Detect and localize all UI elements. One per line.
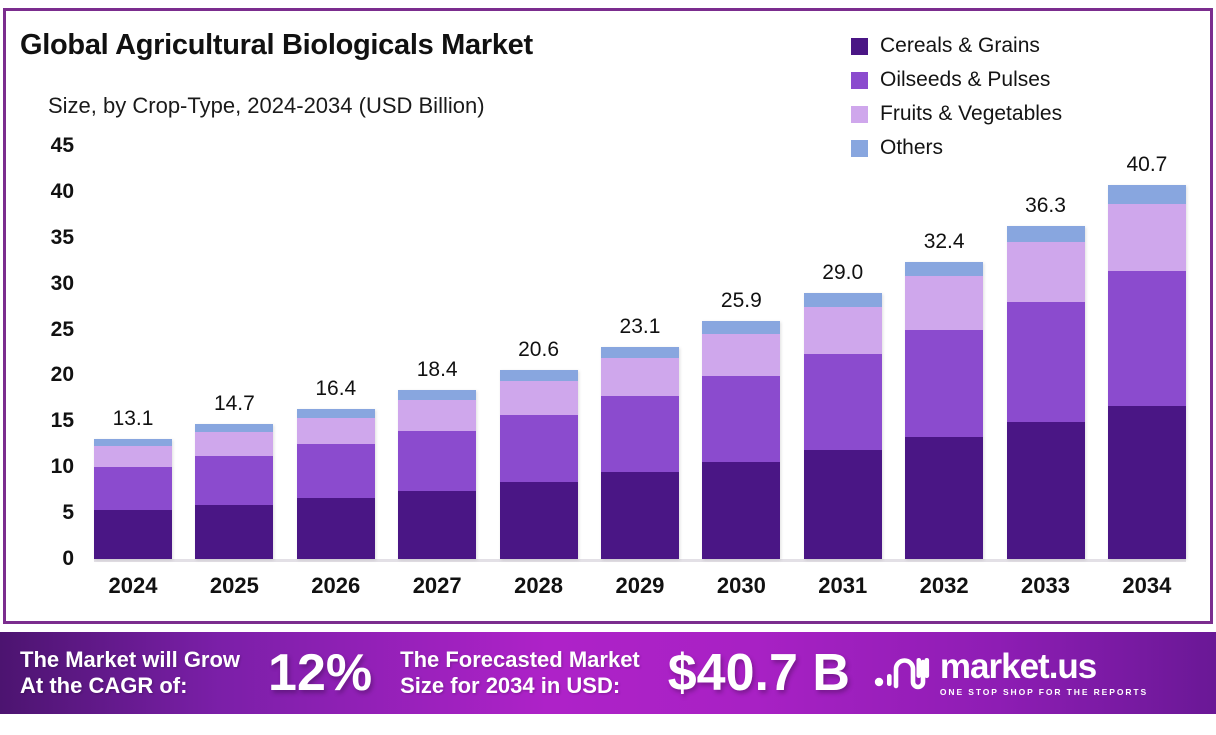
y-axis-tick: 10 bbox=[26, 455, 74, 479]
y-axis-tick: 15 bbox=[26, 409, 74, 433]
cagr-label: The Market will Grow At the CAGR of: bbox=[20, 647, 240, 700]
bar-total-label: 18.4 bbox=[417, 358, 458, 382]
logo-text-block: market.us ONE STOP SHOP FOR THE REPORTS bbox=[940, 649, 1148, 697]
bar-segment[interactable] bbox=[601, 396, 679, 472]
bar-group[interactable]: 40.7 bbox=[1108, 185, 1186, 559]
x-axis-tick: 2027 bbox=[398, 573, 476, 599]
bar-segment[interactable] bbox=[398, 431, 476, 492]
forecast-label-line1: The Forecasted Market bbox=[400, 647, 640, 673]
x-axis-tick: 2024 bbox=[94, 573, 172, 599]
bar-segment[interactable] bbox=[195, 424, 273, 432]
bar-stack[interactable] bbox=[500, 370, 578, 559]
y-axis-tick: 30 bbox=[26, 272, 74, 296]
bar-total-label: 29.0 bbox=[822, 261, 863, 285]
bar-segment[interactable] bbox=[1007, 242, 1085, 302]
market-us-logo: market.us ONE STOP SHOP FOR THE REPORTS bbox=[874, 649, 1148, 697]
bar-segment[interactable] bbox=[195, 432, 273, 456]
y-axis-tick: 40 bbox=[26, 180, 74, 204]
y-axis-tick: 45 bbox=[26, 134, 74, 158]
bar-total-label: 25.9 bbox=[721, 289, 762, 313]
bar-stack[interactable] bbox=[1108, 185, 1186, 559]
bar-stack[interactable] bbox=[94, 439, 172, 559]
bar-stack[interactable] bbox=[804, 293, 882, 559]
bar-segment[interactable] bbox=[702, 334, 780, 376]
forecast-value: $40.7 B bbox=[668, 643, 850, 703]
bar-total-label: 23.1 bbox=[620, 315, 661, 339]
x-axis-tick: 2032 bbox=[905, 573, 983, 599]
y-axis-tick: 25 bbox=[26, 318, 74, 342]
bar-segment[interactable] bbox=[500, 381, 578, 415]
bar-segment[interactable] bbox=[94, 467, 172, 510]
bar-segment[interactable] bbox=[702, 376, 780, 461]
chart-frame: Global Agricultural Biologicals Market S… bbox=[3, 8, 1213, 624]
bar-group[interactable]: 32.4 bbox=[905, 262, 983, 559]
x-axis: 2024202520262027202820292030203120322033… bbox=[94, 573, 1186, 599]
bar-stack[interactable] bbox=[905, 262, 983, 559]
bar-segment[interactable] bbox=[804, 293, 882, 307]
x-axis-tick: 2026 bbox=[297, 573, 375, 599]
bar-stack[interactable] bbox=[702, 321, 780, 559]
bar-segment[interactable] bbox=[905, 330, 983, 437]
bar-total-label: 40.7 bbox=[1126, 153, 1167, 177]
bar-segment[interactable] bbox=[1007, 422, 1085, 559]
y-axis-tick: 35 bbox=[26, 226, 74, 250]
bar-segment[interactable] bbox=[1007, 302, 1085, 422]
bar-stack[interactable] bbox=[1007, 226, 1085, 559]
bar-segment[interactable] bbox=[1007, 226, 1085, 243]
bar-segment[interactable] bbox=[500, 482, 578, 559]
bar-segment[interactable] bbox=[500, 415, 578, 482]
bar-total-label: 20.6 bbox=[518, 338, 559, 362]
bar-stack[interactable] bbox=[195, 424, 273, 559]
bar-total-label: 16.4 bbox=[315, 377, 356, 401]
bar-group[interactable]: 16.4 bbox=[297, 409, 375, 560]
x-axis-tick: 2028 bbox=[500, 573, 578, 599]
bar-stack[interactable] bbox=[601, 347, 679, 559]
bar-total-label: 32.4 bbox=[924, 230, 965, 254]
bar-stack[interactable] bbox=[297, 409, 375, 560]
x-axis-tick: 2025 bbox=[195, 573, 273, 599]
bar-total-label: 36.3 bbox=[1025, 194, 1066, 218]
cagr-label-line2: At the CAGR of: bbox=[20, 673, 240, 699]
bar-segment[interactable] bbox=[702, 321, 780, 334]
bar-group[interactable]: 23.1 bbox=[601, 347, 679, 559]
bar-segment[interactable] bbox=[601, 347, 679, 358]
bar-segment[interactable] bbox=[804, 450, 882, 559]
x-axis-tick: 2030 bbox=[702, 573, 780, 599]
y-axis-tick: 20 bbox=[26, 363, 74, 387]
bar-series-container: 13.114.716.418.420.623.125.929.032.436.3… bbox=[94, 146, 1186, 559]
bar-segment[interactable] bbox=[94, 446, 172, 467]
cagr-label-line1: The Market will Grow bbox=[20, 647, 240, 673]
bar-group[interactable]: 13.1 bbox=[94, 439, 172, 559]
bar-segment[interactable] bbox=[905, 276, 983, 329]
bar-segment[interactable] bbox=[398, 400, 476, 430]
bar-segment[interactable] bbox=[905, 437, 983, 559]
bar-segment[interactable] bbox=[702, 462, 780, 559]
bar-segment[interactable] bbox=[297, 444, 375, 498]
bar-segment[interactable] bbox=[297, 498, 375, 559]
bar-segment[interactable] bbox=[297, 409, 375, 418]
x-axis-baseline bbox=[94, 559, 1186, 562]
x-axis-tick: 2034 bbox=[1108, 573, 1186, 599]
bar-group[interactable]: 36.3 bbox=[1007, 226, 1085, 559]
bar-segment[interactable] bbox=[1108, 185, 1186, 203]
bar-group[interactable]: 29.0 bbox=[804, 293, 882, 559]
y-axis-tick: 5 bbox=[26, 501, 74, 525]
forecast-label-line2: Size for 2034 in USD: bbox=[400, 673, 640, 699]
bar-segment[interactable] bbox=[195, 505, 273, 559]
bar-total-label: 14.7 bbox=[214, 392, 255, 416]
bar-group[interactable]: 14.7 bbox=[195, 424, 273, 559]
bar-group[interactable]: 18.4 bbox=[398, 390, 476, 559]
bar-segment[interactable] bbox=[804, 307, 882, 355]
market-us-logo-icon bbox=[874, 652, 930, 694]
bar-segment[interactable] bbox=[297, 418, 375, 445]
bar-segment[interactable] bbox=[601, 358, 679, 396]
logo-wordmark: market.us bbox=[940, 649, 1148, 684]
x-axis-tick: 2029 bbox=[601, 573, 679, 599]
bar-segment[interactable] bbox=[1108, 271, 1186, 406]
bar-total-label: 13.1 bbox=[113, 407, 154, 431]
y-axis: 454035302520151050 bbox=[20, 11, 74, 627]
y-axis-tick: 0 bbox=[26, 547, 74, 571]
bar-group[interactable]: 25.9 bbox=[702, 321, 780, 559]
bar-segment[interactable] bbox=[1108, 204, 1186, 271]
bar-segment[interactable] bbox=[500, 370, 578, 381]
logo-tagline: ONE STOP SHOP FOR THE REPORTS bbox=[940, 687, 1148, 697]
forecast-label: The Forecasted Market Size for 2034 in U… bbox=[400, 647, 640, 700]
bar-stack[interactable] bbox=[398, 390, 476, 559]
bar-segment[interactable] bbox=[398, 390, 476, 400]
x-axis-tick: 2031 bbox=[804, 573, 882, 599]
bar-segment[interactable] bbox=[398, 491, 476, 559]
plot-area: 454035302520151050 13.114.716.418.420.62… bbox=[6, 11, 1216, 627]
bar-segment[interactable] bbox=[1108, 406, 1186, 559]
cagr-value: 12% bbox=[268, 643, 372, 703]
bar-segment[interactable] bbox=[94, 439, 172, 446]
bar-segment[interactable] bbox=[195, 456, 273, 505]
x-axis-tick: 2033 bbox=[1007, 573, 1085, 599]
bar-group[interactable]: 20.6 bbox=[500, 370, 578, 559]
bottom-banner: The Market will Grow At the CAGR of: 12%… bbox=[0, 632, 1216, 714]
bar-segment[interactable] bbox=[601, 472, 679, 559]
bar-segment[interactable] bbox=[94, 510, 172, 559]
bar-segment[interactable] bbox=[905, 262, 983, 277]
bar-segment[interactable] bbox=[804, 354, 882, 449]
